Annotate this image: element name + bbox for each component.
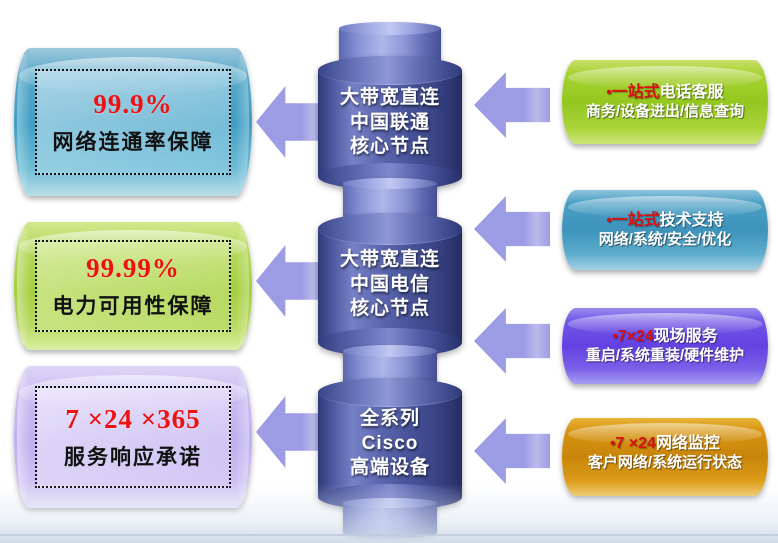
center-node-label: 全系列 Cisco 高端设备: [318, 407, 462, 481]
center-node-unicom: 大带宽直连 中国联通 核心节点: [318, 56, 462, 190]
center-node-cisco: 全系列 Cisco 高端设备: [318, 378, 462, 510]
metric-value: 99.99%: [86, 253, 180, 284]
card-title: 网络监控: [656, 435, 720, 452]
metric-label: 电力可用性保障: [53, 290, 214, 320]
card-title-line: •一站式电话客服: [606, 83, 723, 103]
card-title-line: •7×24现场服务: [612, 327, 717, 347]
cylinder-top-rim: [318, 378, 462, 407]
arrow-gloss: [506, 88, 550, 122]
card-title-line: •一站式技术支持: [606, 211, 723, 231]
center-node-telecom: 大带宽直连 中国电信 核心节点: [318, 213, 462, 357]
neck-cap: [343, 498, 437, 508]
card-detail: 重启/系统重装/硬件维护: [586, 347, 744, 365]
right-card-network-monitoring: •7 ×24网络监控 客户网络/系统运行状态: [562, 418, 768, 496]
right-card-phone-support: •一站式电话客服 商务/设备进出/信息查询: [562, 60, 768, 144]
dashed-panel: 7 ×24 ×365 服务响应承诺: [35, 386, 230, 488]
card-title: 技术支持: [660, 212, 724, 229]
metric-label: 服务响应承诺: [64, 441, 202, 471]
cylinder-top-rim: [318, 213, 462, 245]
card-title-line: •7 ×24网络监控: [610, 434, 720, 454]
card-accent: 一站式: [612, 212, 660, 229]
arrow-right-to-onsite-service: [474, 308, 550, 374]
neck-cap: [339, 22, 441, 35]
arrow-right-to-phone-support: [474, 72, 550, 138]
dashed-panel: 99.9% 网络连通率保障: [35, 69, 230, 176]
metric-value: 99.9%: [93, 89, 172, 120]
arrow-left-to-network: [256, 86, 326, 158]
diagram-canvas: 99.9% 网络连通率保障 99.99% 电力可用性保障 7 ×24 ×365 …: [0, 0, 778, 543]
card-accent: 7 ×24: [615, 435, 655, 452]
arrow-right-to-tech-support: [474, 196, 550, 262]
center-node-label: 大带宽直连 中国电信 核心节点: [318, 248, 462, 322]
metric-label: 网络连通率保障: [53, 126, 214, 156]
arrow-gloss: [506, 434, 550, 468]
neck-cap: [343, 178, 437, 189]
card-detail: 商务/设备进出/信息查询: [586, 103, 744, 121]
left-card-power-availability: 99.99% 电力可用性保障: [14, 222, 252, 350]
arrow-gloss: [506, 324, 550, 358]
right-card-onsite-service: •7×24现场服务 重启/系统重装/硬件维护: [562, 308, 768, 384]
arrow-right-to-network-monitoring: [474, 418, 550, 484]
left-card-network-availability: 99.9% 网络连通率保障: [14, 48, 252, 196]
card-title: 电话客服: [660, 84, 724, 101]
arrow-left-to-response: [256, 396, 326, 468]
card-accent: 一站式: [612, 84, 660, 101]
metric-value: 7 ×24 ×365: [65, 404, 200, 435]
neck-tube: [343, 498, 437, 538]
arrow-left-to-power: [256, 245, 326, 317]
right-card-tech-support: •一站式技术支持 网络/系统/安全/优化: [562, 190, 768, 270]
card-detail: 客户网络/系统运行状态: [579, 454, 751, 472]
left-card-service-response: 7 ×24 ×365 服务响应承诺: [14, 366, 252, 508]
arrow-gloss: [506, 212, 550, 246]
dashed-panel: 99.99% 电力可用性保障: [35, 240, 230, 332]
card-detail: 网络/系统/安全/优化: [599, 231, 732, 249]
card-accent: 7×24: [618, 328, 654, 345]
bottom-divider: [0, 534, 778, 536]
card-title: 现场服务: [654, 328, 718, 345]
card-text: •7 ×24网络监控 客户网络/系统运行状态: [562, 418, 768, 496]
stack-bottom-foot: [343, 498, 437, 538]
card-text: •一站式电话客服 商务/设备进出/信息查询: [562, 60, 768, 144]
neck-cap: [343, 345, 437, 357]
card-text: •7×24现场服务 重启/系统重装/硬件维护: [562, 308, 768, 384]
center-node-label: 大带宽直连 中国联通 核心节点: [318, 86, 462, 160]
card-text: •一站式技术支持 网络/系统/安全/优化: [562, 190, 768, 270]
